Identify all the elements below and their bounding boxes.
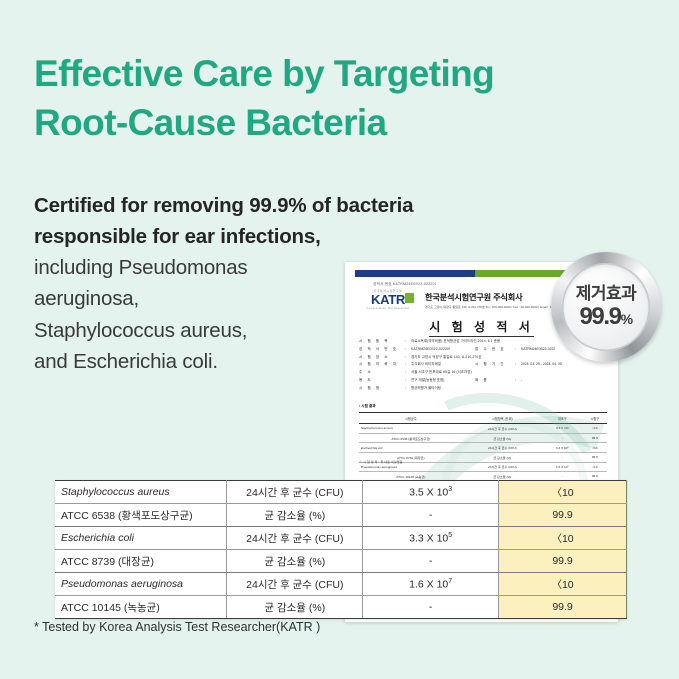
certificate-field-row: 용 도 : 연구 개발(능동형 표함) 제 품 : - — [359, 379, 607, 382]
cell-control-value: - — [363, 596, 499, 619]
headline-line-1: Effective Care by Targeting — [34, 53, 494, 94]
mini-td-control: - — [542, 452, 583, 462]
cell-test-value: 〈10 — [499, 527, 627, 550]
katr-logo-mark: KATR — [359, 293, 417, 306]
cell-test-value: 99.9 — [499, 550, 627, 573]
cell-test-item: 균 감소율 (%) — [227, 596, 363, 619]
field-value: KATRM24E0S22-02220I — [411, 348, 475, 351]
species-name: Staphylococcus aureus — [61, 486, 170, 498]
removal-rate-badge-inner: 제거효과 99.9% — [562, 263, 650, 351]
mini-table-row: Escherichia coli 24시간 후 균수 (CFU) 3.3 X 1… — [359, 443, 607, 453]
cell-test-value: 99.9 — [499, 596, 627, 619]
mini-td-control: - — [542, 433, 583, 443]
cell-test-item: 24시간 후 균수 (CFU) — [227, 481, 363, 504]
test-results-table: Staphylococcus aureus 24시간 후 균수 (CFU) 3.… — [55, 480, 627, 619]
mini-th-control: 대조구 — [542, 413, 583, 424]
cell-test-value: 〈10 — [499, 573, 627, 596]
mini-td-control: 3.5 X 10³ — [542, 424, 583, 434]
mini-td-strain: ATCC 6538 (황색포도상구균) — [359, 433, 463, 443]
control-exponent: 7 — [448, 578, 452, 585]
cell-species: Escherichia coli — [55, 527, 227, 550]
katr-logo-subtext: Korea Analysis Test Researcher — [359, 307, 417, 310]
certificate-doc-number: 성적서 번호 KATRM24E0S22-02220I — [373, 282, 436, 287]
field-value-2: 2024. 03. 25 - 2024. 04. 05 — [521, 363, 607, 366]
certificate-company-address: 경기도 고양시 덕양구 통일로 140, A-210,270호 Tel : 07… — [425, 305, 570, 309]
certificate-results-title: ▪ 시험 결과 — [359, 404, 376, 409]
certificate-company-name: 한국분석시험연구원 주식회사 — [425, 291, 570, 303]
field-value: 서울 서초구 반포대로 65길 16 (서초자양) — [411, 371, 607, 374]
mini-td-control: 1.6 X 10⁷ — [542, 462, 583, 472]
page-title: Effective Care by Targeting Root-Cause B… — [34, 50, 634, 148]
certificate-field-row: 시 험 의 뢰 자 : 주식회사 비타자메일 시 험 기 간 : 2024. 0… — [359, 363, 607, 366]
mini-td-test: <10 — [583, 424, 607, 434]
field-key: 시 험 명 — [359, 387, 405, 390]
mini-td-item: 24시간 후 균수 (CFU) — [463, 443, 542, 453]
field-value-2: - — [521, 379, 607, 382]
certificate-field-row: 시 험 장 소 : 경기도 고양시 덕양구 통일로 140, A-210,270… — [359, 356, 607, 359]
badge-percent-sign: % — [621, 311, 633, 327]
cell-species: Pseudomonas aeruginosa — [55, 573, 227, 596]
table-row: ATCC 10145 (녹농균) 균 감소율 (%) - 99.9 — [55, 596, 627, 619]
field-value: 주식회사 비타자메일 — [411, 363, 475, 366]
field-key: 시 험 품 목 — [359, 340, 405, 343]
species-name: Escherichia coli — [61, 532, 134, 544]
field-key: 주 소 — [359, 371, 405, 374]
mini-td-test: <10 — [583, 462, 607, 472]
field-key-2: 접 수 번 호 — [475, 348, 515, 351]
cell-test-item: 24시간 후 균수 (CFU) — [227, 527, 363, 550]
control-exponent: 5 — [448, 532, 452, 539]
mini-td-test: 99.9 — [583, 433, 607, 443]
control-mantissa: 3.3 X 10 — [409, 532, 448, 544]
mini-table-header-row: 시험균주 시험항목 (단위) 대조구 시험구 — [359, 413, 607, 424]
cell-test-value: 99.9 — [499, 504, 627, 527]
mini-th-organism: 시험균주 — [359, 413, 463, 424]
cell-strain: ATCC 8739 (대장균) — [55, 550, 227, 573]
table-row: Escherichia coli 24시간 후 균수 (CFU) 3.3 X 1… — [55, 527, 627, 550]
cell-control-value: - — [363, 504, 499, 527]
cell-test-item: 균 감소율 (%) — [227, 550, 363, 573]
mini-table-row: Staphylococcus aureus 24시간 후 균수 (CFU) 3.… — [359, 424, 607, 434]
mini-td-test: 99.9 — [583, 452, 607, 462]
field-key: 시 험 장 소 — [359, 356, 405, 359]
katr-logo-text: KATR — [371, 292, 405, 307]
certificate-company-block: 한국분석시험연구원 주식회사 경기도 고양시 덕양구 통일로 140, A-21… — [425, 291, 570, 309]
certificate-mini-table: 시험균주 시험항목 (단위) 대조구 시험구 Staphylococcus au… — [359, 412, 607, 482]
certificate-title-text: 시 험 성 적 서 — [429, 320, 534, 337]
katr-logo-green-square — [405, 293, 414, 303]
subheading-bold-line-2: responsible for ear infections, — [34, 221, 474, 252]
removal-rate-badge: 제거효과 99.9% — [551, 252, 661, 362]
cell-control-value: 3.5 X 103 — [363, 481, 499, 504]
control-mantissa: 3.5 X 10 — [409, 486, 448, 498]
field-value: 연구 개발(능동형 표함) — [411, 379, 475, 382]
mini-td-item: 균 감소율 (%) — [463, 433, 542, 443]
mini-td-control: 3.3 X 10⁵ — [542, 443, 583, 453]
cell-test-item: 균 감소율 (%) — [227, 504, 363, 527]
species-name: Pseudomonas aeruginosa — [61, 578, 183, 590]
certificate-note: ※ 시 험 성 적 : 위 내용 이상없음 — [359, 460, 403, 464]
cell-strain: ATCC 6538 (황색포도상구균) — [55, 504, 227, 527]
mini-td-item: 균 감소율 (%) — [463, 452, 542, 462]
mini-td-organism: Escherichia coli — [359, 443, 463, 453]
cell-test-value: 〈10 — [499, 481, 627, 504]
footnote: * Tested by Korea Analysis Test Research… — [34, 620, 320, 634]
field-value: 경기도 고양시 덕양구 통일로 140, A-210,270호 — [411, 356, 607, 359]
table-row: Pseudomonas aeruginosa 24시간 후 균수 (CFU) 1… — [55, 573, 627, 596]
field-key-2: 제 품 — [475, 379, 515, 382]
mini-td-organism: Staphylococcus aureus — [359, 424, 463, 434]
subheading-bold-line-1: Certified for removing 99.9% of bacteria — [34, 190, 474, 221]
badge-value-number: 99.9 — [579, 303, 620, 330]
cell-test-item: 24시간 후 균수 (CFU) — [227, 573, 363, 596]
table-row: Staphylococcus aureus 24시간 후 균수 (CFU) 3.… — [55, 481, 627, 504]
cell-control-value: - — [363, 550, 499, 573]
control-exponent: 3 — [448, 486, 452, 493]
cell-control-value: 1.6 X 107 — [363, 573, 499, 596]
cell-control-value: 3.3 X 105 — [363, 527, 499, 550]
certificate-field-row: 주 소 : 서울 서초구 반포대로 65길 16 (서초자양) — [359, 371, 607, 374]
field-key: 성 적 서 번 호 — [359, 348, 405, 351]
katr-logo: 한국분석시험연구원 KATR Korea Analysis Test Resea… — [359, 290, 417, 312]
badge-value: 99.9% — [579, 305, 632, 329]
mini-table-row: ATCC 6538 (황색포도상구균) 균 감소율 (%) - 99.9 — [359, 433, 607, 443]
field-key: 용 도 — [359, 379, 405, 382]
certificate-field-row: 시 험 명 : 항균력평가 율타이팅 — [359, 387, 607, 390]
field-value: 항균력평가 율타이팅 — [411, 387, 607, 390]
field-key-2: 시 험 기 간 — [475, 363, 515, 366]
cell-strain: ATCC 10145 (녹농균) — [55, 596, 227, 619]
mini-td-test: <10 — [583, 443, 607, 453]
mini-td-item: 24시간 후 균수 (CFU) — [463, 462, 542, 472]
cell-species: Staphylococcus aureus — [55, 481, 227, 504]
mini-td-item: 24시간 후 균수 (CFU) — [463, 424, 542, 434]
mini-th-test: 시험구 — [583, 413, 607, 424]
mini-th-item: 시험항목 (단위) — [463, 413, 542, 424]
field-key: 시 험 의 뢰 자 — [359, 363, 405, 366]
headline-line-2: Root-Cause Bacteria — [34, 99, 634, 148]
table-row: ATCC 8739 (대장균) 균 감소율 (%) - 99.9 — [55, 550, 627, 573]
table-row: ATCC 6538 (황색포도상구균) 균 감소율 (%) - 99.9 — [55, 504, 627, 527]
badge-label-korean: 제거효과 — [576, 285, 637, 302]
marketing-infographic: Effective Care by Targeting Root-Cause B… — [0, 0, 679, 679]
control-mantissa: 1.6 X 10 — [409, 578, 448, 590]
